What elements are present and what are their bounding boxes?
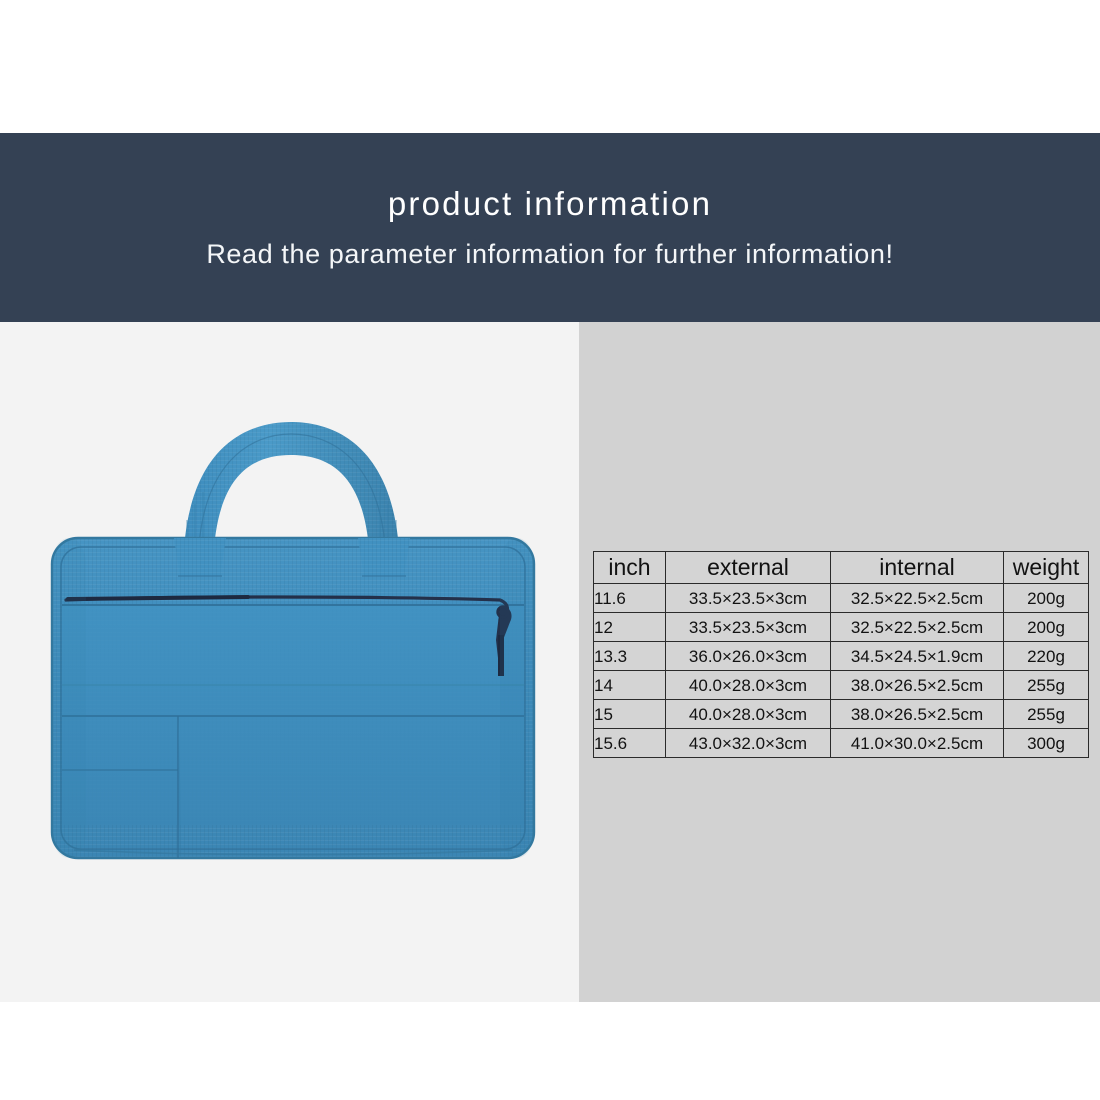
cell-internal: 32.5×22.5×2.5cm [831,613,1004,642]
table-row: 15.6 43.0×32.0×3cm 41.0×30.0×2.5cm 300g [594,729,1089,758]
cell-inch: 13.3 [594,642,666,671]
spec-table-container: inch external internal weight 11.6 33.5×… [593,551,1088,758]
table-row: 15 40.0×28.0×3cm 38.0×26.5×2.5cm 255g [594,700,1089,729]
page-title: product information [388,186,712,222]
cell-weight: 200g [1004,613,1089,642]
cell-inch: 15 [594,700,666,729]
cell-internal: 41.0×30.0×2.5cm [831,729,1004,758]
product-image-panel [0,322,579,1002]
table-header-row: inch external internal weight [594,552,1089,584]
cell-external: 36.0×26.0×3cm [666,642,831,671]
bag-body [52,538,534,858]
cell-weight: 255g [1004,671,1089,700]
cell-internal: 38.0×26.5×2.5cm [831,700,1004,729]
cell-internal: 32.5×22.5×2.5cm [831,584,1004,613]
table-row: 13.3 36.0×26.0×3cm 34.5×24.5×1.9cm 220g [594,642,1089,671]
cell-weight: 255g [1004,700,1089,729]
table-row: 14 40.0×28.0×3cm 38.0×26.5×2.5cm 255g [594,671,1089,700]
cell-external: 33.5×23.5×3cm [666,613,831,642]
laptop-bag-image [48,400,538,870]
column-header-external: external [666,552,831,584]
cell-external: 40.0×28.0×3cm [666,700,831,729]
product-information-banner: product information Read the parameter i… [0,133,1100,322]
column-header-weight: weight [1004,552,1089,584]
cell-weight: 200g [1004,584,1089,613]
page-subtitle: Read the parameter information for furth… [206,240,893,270]
cell-internal: 34.5×24.5×1.9cm [831,642,1004,671]
column-header-internal: internal [831,552,1004,584]
content-area: inch external internal weight 11.6 33.5×… [0,322,1100,1002]
specification-panel: inch external internal weight 11.6 33.5×… [579,322,1100,1002]
cell-weight: 220g [1004,642,1089,671]
cell-inch: 15.6 [594,729,666,758]
cell-weight: 300g [1004,729,1089,758]
column-header-inch: inch [594,552,666,584]
cell-inch: 12 [594,613,666,642]
cell-inch: 14 [594,671,666,700]
cell-inch: 11.6 [594,584,666,613]
table-row: 12 33.5×23.5×3cm 32.5×22.5×2.5cm 200g [594,613,1089,642]
laptop-bag-illustration [48,400,538,870]
specification-table: inch external internal weight 11.6 33.5×… [593,551,1089,758]
cell-external: 40.0×28.0×3cm [666,671,831,700]
cell-internal: 38.0×26.5×2.5cm [831,671,1004,700]
cell-external: 43.0×32.0×3cm [666,729,831,758]
cell-external: 33.5×23.5×3cm [666,584,831,613]
table-row: 11.6 33.5×23.5×3cm 32.5×22.5×2.5cm 200g [594,584,1089,613]
